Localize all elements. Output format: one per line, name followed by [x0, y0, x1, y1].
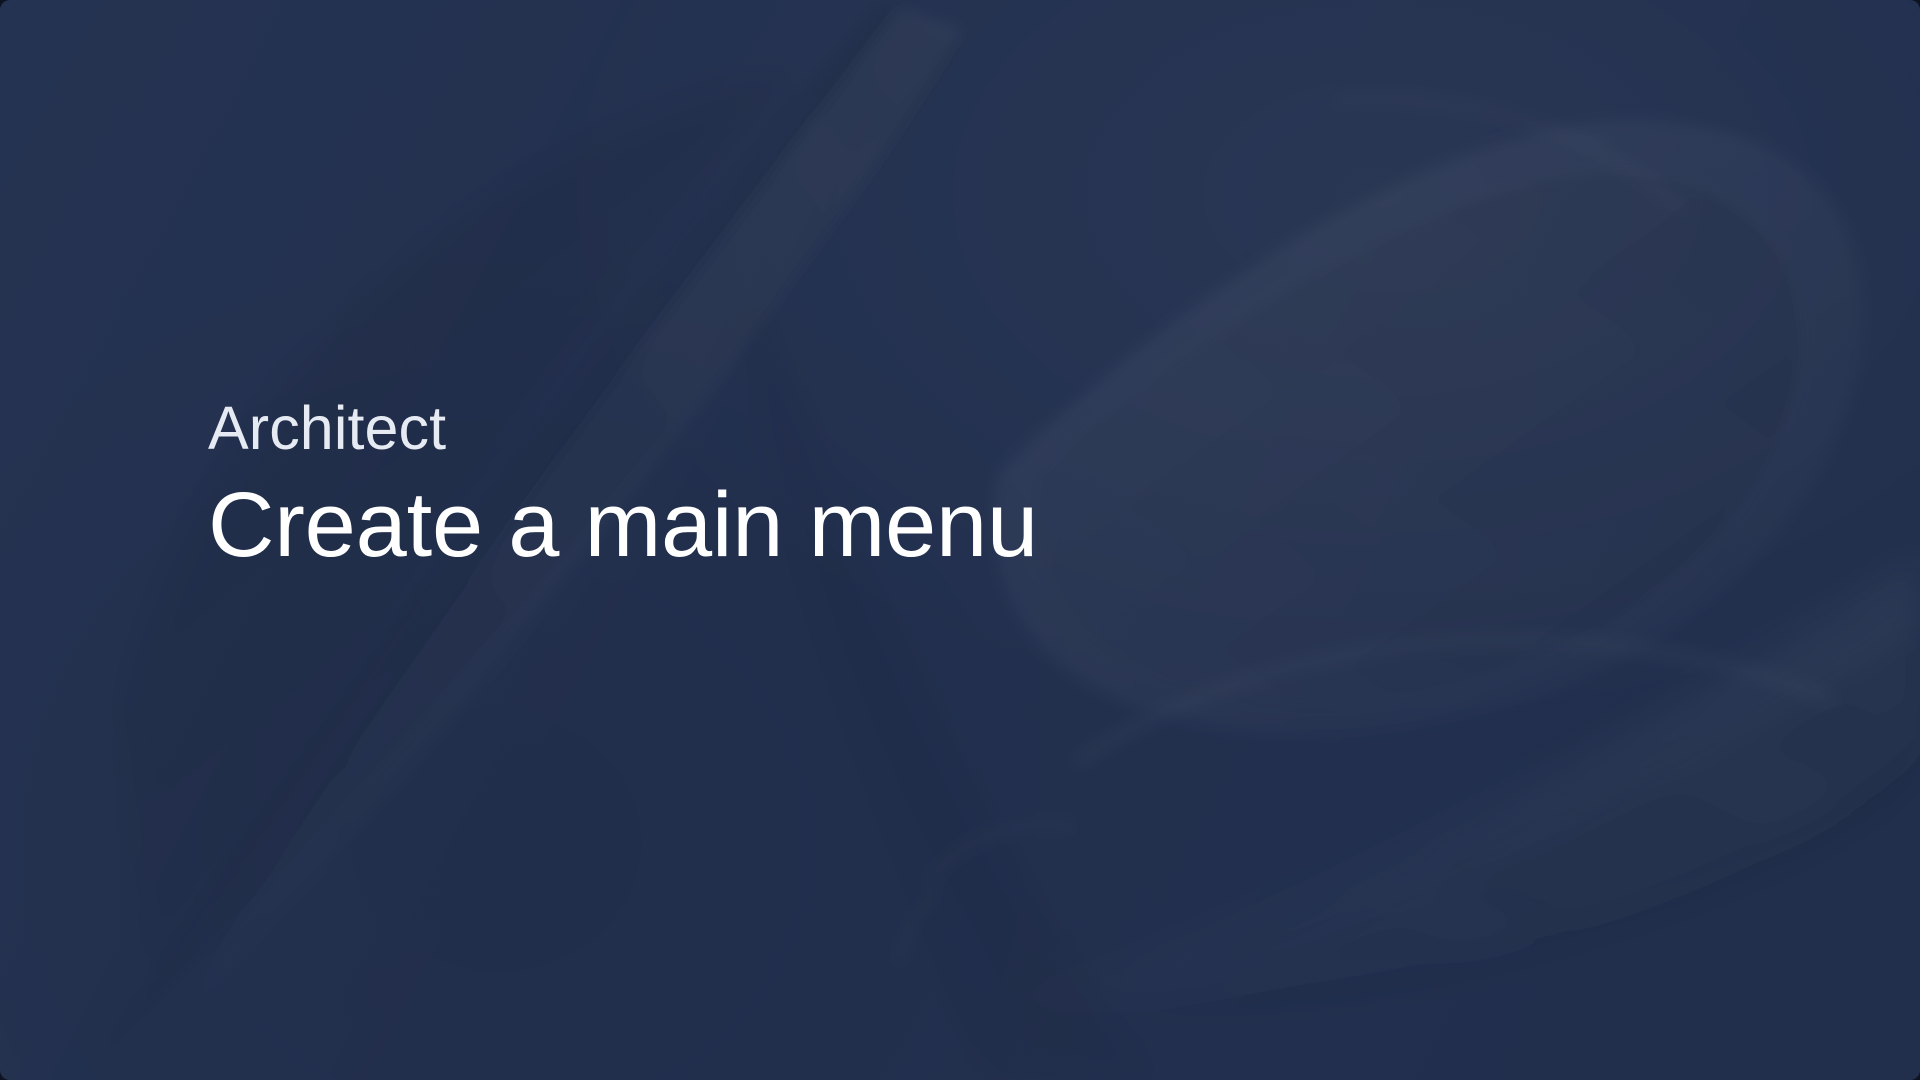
wedge-shape-lower-right	[1000, 560, 1920, 1019]
title-slide: Architect Create a main menu	[0, 0, 1920, 1080]
curve-accent-stroke	[1080, 98, 1830, 760]
slide-headline: Create a main menu	[208, 479, 1038, 571]
leaf-shape-upper-right	[994, 120, 1863, 735]
slide-text-block: Architect Create a main menu	[208, 398, 1038, 571]
slide-eyebrow: Architect	[208, 398, 1038, 459]
curve-accent-stroke-left	[900, 825, 1070, 960]
